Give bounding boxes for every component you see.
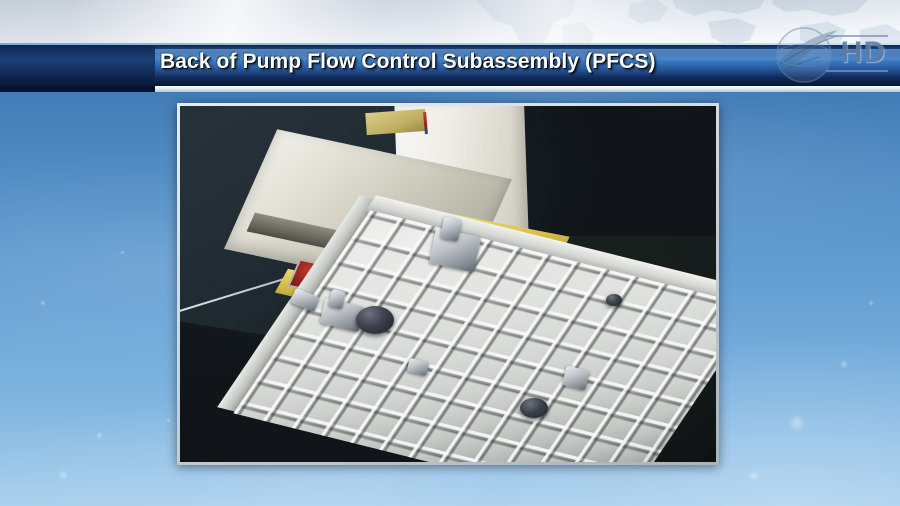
page-title: Back of Pump Flow Control Subassembly (P… (160, 50, 760, 74)
hd-badge-label: HD (841, 36, 886, 70)
broadcast-frame: Back of Pump Flow Control Subassembly (P… (0, 0, 900, 506)
photo-dark-cap (520, 398, 548, 418)
header-strip (0, 0, 900, 45)
photo-frame (177, 103, 719, 465)
title-underline (155, 86, 900, 92)
title-bar-left-cap (0, 86, 155, 92)
photo-dark-cap (356, 306, 394, 334)
pfcs-hardware-photograph (180, 106, 716, 462)
world-map-watermark (450, 0, 900, 45)
photo-gold-tape-top (365, 109, 426, 135)
hd-badge-rule-bottom (826, 70, 888, 72)
photo-dark-cap (606, 294, 622, 306)
